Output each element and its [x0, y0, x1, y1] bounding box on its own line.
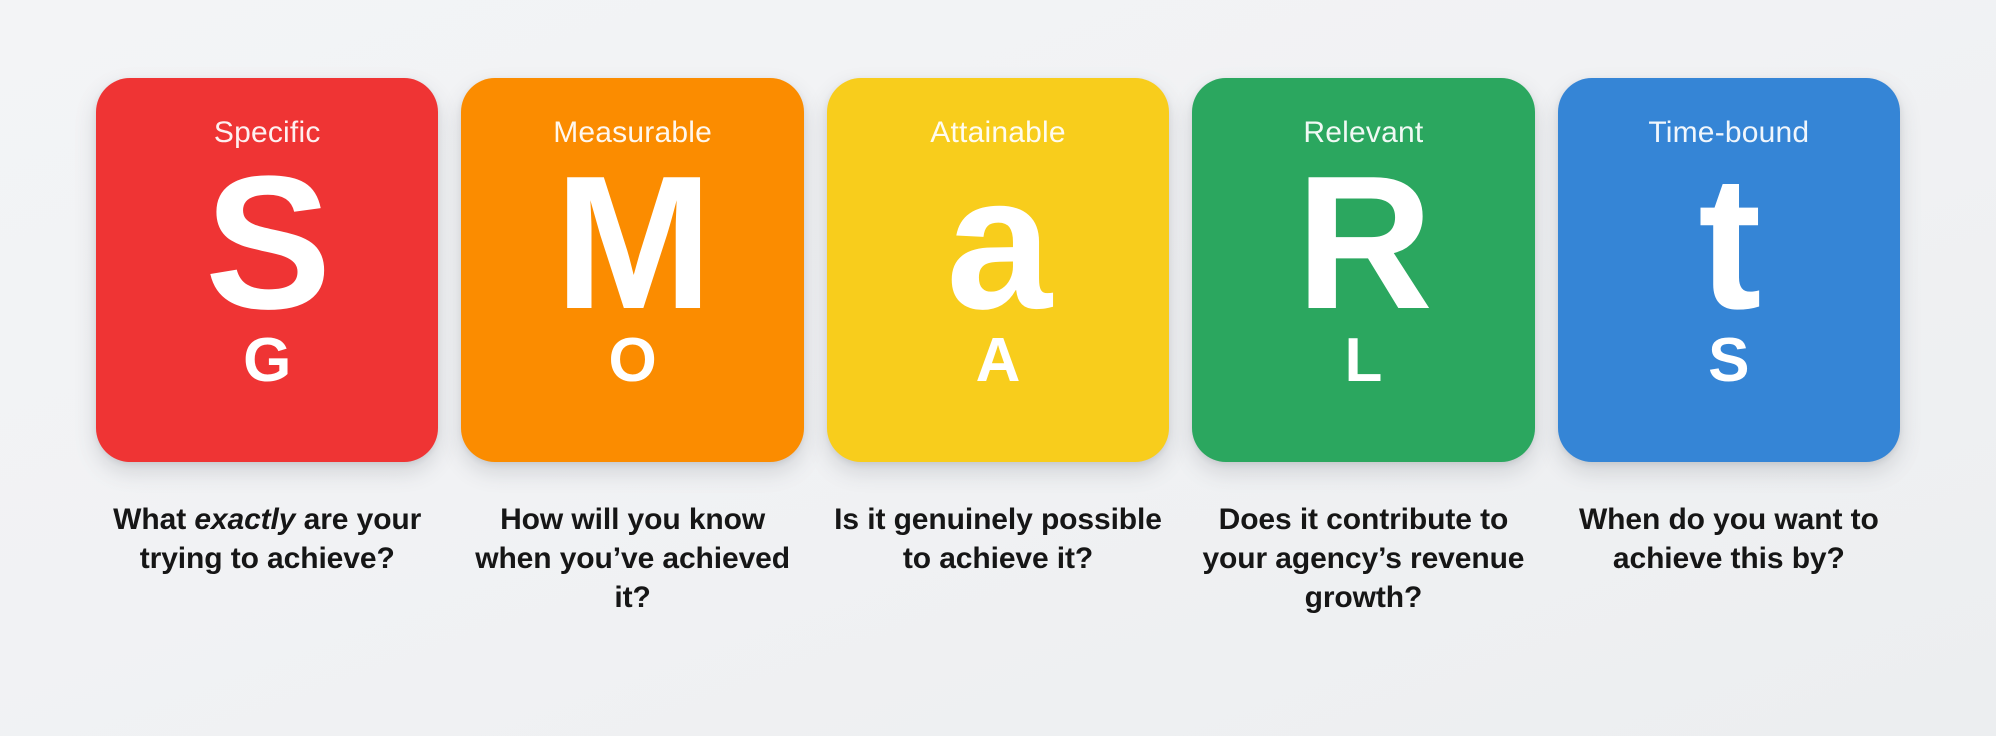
caption-attainable: Is it genuinely possible to achieve it? [827, 500, 1169, 578]
caption-relevant: Does it contribute to your agency’s reve… [1192, 500, 1534, 617]
caption-measurable: How will you know when you’ve achieved i… [461, 500, 803, 617]
smart-card-specific[interactable]: Specific S G [96, 78, 438, 462]
smart-card-time-bound[interactable]: Time-bound t S [1558, 78, 1900, 462]
card-big-letter-t: t [1698, 160, 1759, 328]
card-big-letter-s: S [205, 160, 330, 328]
card-big-letter-a: a [946, 160, 1050, 328]
caption-time-bound: When do you want to achieve this by? [1558, 500, 1900, 578]
card-big-letter-r: R [1296, 160, 1431, 328]
smart-goals-infographic: Specific S G Measurable M O Attainable a… [0, 0, 1996, 736]
card-sub-letter-o: O [608, 330, 656, 392]
card-big-letter-m: M [554, 160, 710, 328]
card-sub-letter-g: G [243, 330, 291, 392]
card-sub-letter-s: S [1708, 330, 1749, 392]
smart-card-measurable[interactable]: Measurable M O [461, 78, 803, 462]
smart-captions-row: What exactly are your trying to achieve?… [96, 500, 1900, 617]
caption-specific-emphasis: exactly [194, 503, 295, 536]
caption-specific-before: What [113, 503, 194, 536]
smart-card-attainable[interactable]: Attainable a A [827, 78, 1169, 462]
caption-specific: What exactly are your trying to achieve? [96, 500, 438, 578]
card-sub-letter-l: L [1344, 330, 1382, 392]
card-sub-letter-a-upper: A [976, 330, 1021, 392]
smart-card-relevant[interactable]: Relevant R L [1192, 78, 1534, 462]
smart-cards-row: Specific S G Measurable M O Attainable a… [96, 78, 1900, 462]
